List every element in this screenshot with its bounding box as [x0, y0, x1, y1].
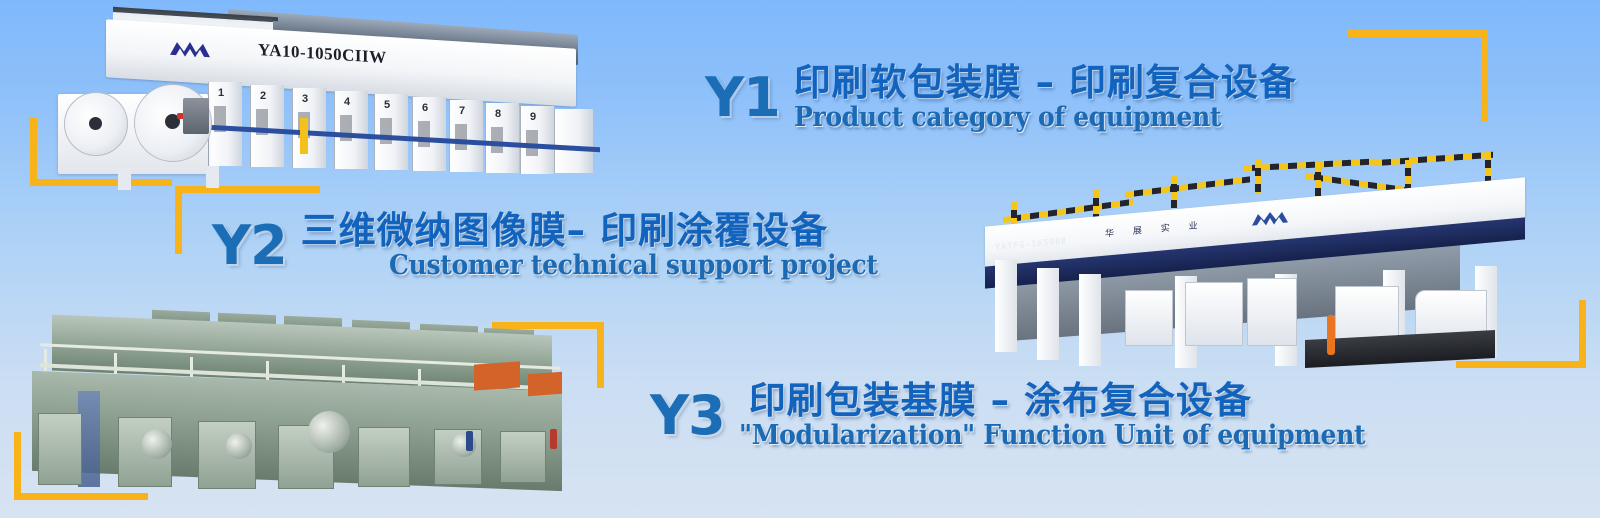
- unit-number: 2: [260, 90, 266, 102]
- unit-number: 7: [459, 105, 465, 117]
- press-control-panel: [183, 98, 209, 134]
- worker-figure: [466, 431, 473, 451]
- safety-rail-post: [1171, 176, 1177, 208]
- promotional-banner: YA10-1050CIIW 1 2 3 4 5 6 7 8 9 Y1 印刷软包装…: [0, 0, 1600, 518]
- coating-line-module: [38, 413, 82, 485]
- unit-number: 8: [495, 108, 501, 120]
- hy-brand-logo-icon: [168, 39, 212, 64]
- entry-title-y1: 印刷软包装膜 – 印刷复合设备: [794, 62, 1297, 103]
- press-reel-hub: [89, 117, 102, 130]
- laminator-cabinet: [1247, 278, 1297, 346]
- safety-rail-post: [1315, 164, 1321, 198]
- unit-number: 5: [384, 99, 390, 111]
- coating-line-orange-hood: [528, 372, 562, 396]
- entry-subtitle-y2: Customer technical support project: [389, 251, 878, 281]
- machine-image-coating-line: [22, 303, 582, 493]
- entry-subtitle-y3: "Modularization" Function Unit of equipm…: [739, 421, 1365, 451]
- machine-image-rotogravure-press: YA10-1050CIIW 1 2 3 4 5 6 7 8 9: [58, 8, 598, 183]
- machine-image-coating-laminator: 华 展 实 业 YATFG-1650BⅡ: [975, 150, 1540, 365]
- unit-number: 6: [422, 102, 428, 114]
- safety-rail: [1373, 152, 1493, 166]
- worker-figure: [550, 429, 557, 449]
- coating-line-roller: [308, 411, 350, 453]
- safety-rail: [1125, 176, 1250, 197]
- laminator-hose: [1327, 315, 1335, 355]
- entry-block-y3: Y3 印刷包装基膜 – 涂布复合设备 "Modularization" Func…: [650, 380, 1412, 451]
- entry-code-y1: Y1: [705, 71, 780, 125]
- entry-title-y2: 三维微纳图像膜– 印刷涂覆设备: [301, 210, 914, 251]
- safety-rail: [1243, 159, 1373, 172]
- entry-title-y3: 印刷包装基膜 – 涂布复合设备: [749, 380, 1412, 421]
- entry-code-y3: Y3: [650, 389, 725, 443]
- coating-line-roller: [226, 433, 252, 459]
- coating-line-orange-hood: [474, 361, 520, 390]
- corner-bracket-top-right: [1348, 30, 1488, 122]
- unit-number: 3: [302, 93, 308, 105]
- entry-block-y1: Y1 印刷软包装膜 – 印刷复合设备 Product category of e…: [705, 62, 1297, 133]
- entry-subtitle-y1: Product category of equipment: [794, 103, 1262, 133]
- unit-number: 1: [218, 87, 224, 99]
- coating-line-module: [500, 431, 546, 483]
- entry-code-y2: Y2: [212, 219, 287, 273]
- hy-brand-logo-icon: [1250, 208, 1290, 230]
- press-yellow-marker: [300, 118, 308, 154]
- press-print-units: 1 2 3 4 5 6 7 8 9: [208, 80, 593, 172]
- unit-number: 9: [530, 111, 536, 123]
- entry-block-y2: Y2 三维微纳图像膜– 印刷涂覆设备 Customer technical su…: [212, 210, 914, 281]
- coating-line-module: [358, 427, 410, 487]
- safety-rail-post: [1255, 160, 1261, 194]
- unit-number: 4: [344, 96, 350, 108]
- laminator-cabinet: [1185, 282, 1243, 346]
- laminator-cabinet: [1125, 290, 1173, 346]
- coating-line-roller: [142, 429, 172, 459]
